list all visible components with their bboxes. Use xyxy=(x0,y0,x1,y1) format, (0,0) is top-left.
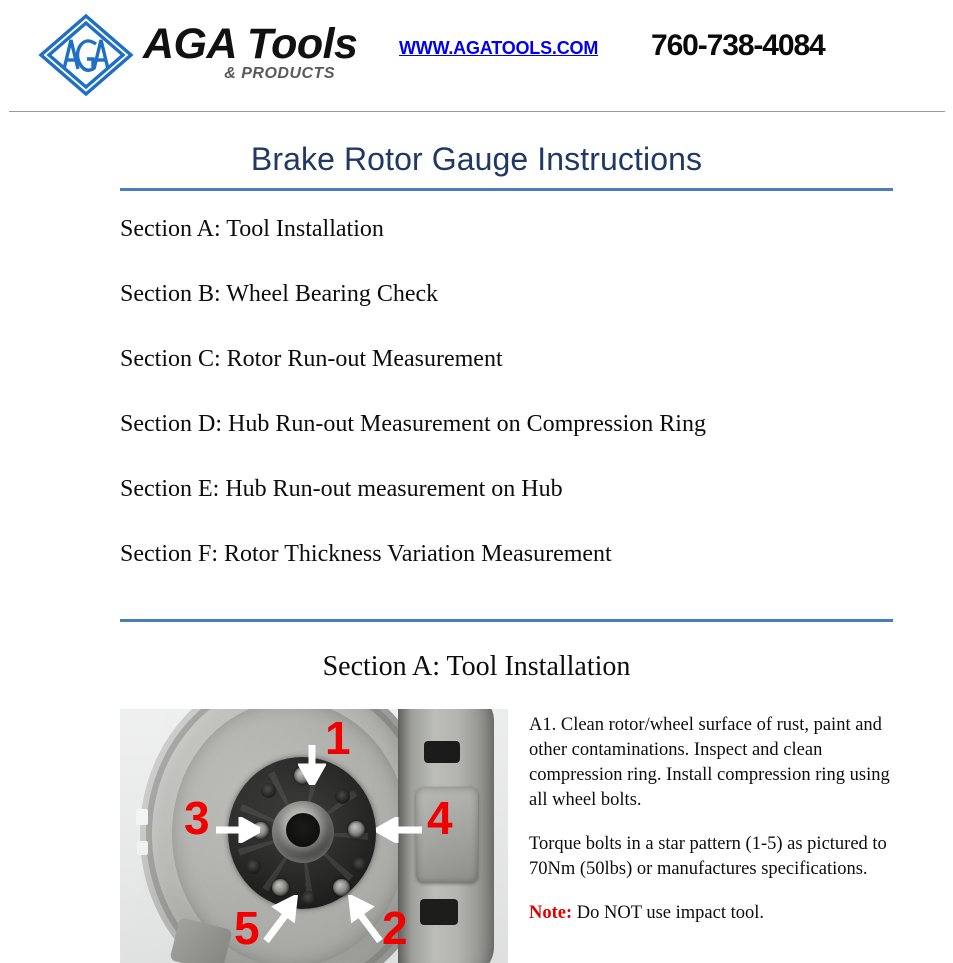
list-item[interactable]: Section F: Rotor Thickness Variation Mea… xyxy=(120,539,900,569)
document-page: AGA Tools & PRODUCTS WWW.AGATOOLS.COM 76… xyxy=(0,0,953,963)
callout-number-2: 2 xyxy=(382,905,408,951)
note-label: Note: xyxy=(529,903,572,923)
callout-number-3: 3 xyxy=(184,795,210,841)
brand-wordmark: AGA Tools & PRODUCTS xyxy=(143,21,373,83)
callout-arrow-5 xyxy=(262,895,302,943)
list-item[interactable]: Section A: Tool Installation xyxy=(120,214,900,244)
phone-number: 760-738-4084 xyxy=(651,29,825,63)
section-a-instructions: A1. Clean rotor/wheel surface of rust, p… xyxy=(529,713,907,945)
callout-number-4: 4 xyxy=(427,795,453,841)
list-item[interactable]: Section D: Hub Run-out Measurement on Co… xyxy=(120,409,900,439)
callout-arrow-1 xyxy=(298,745,326,785)
section-a-title: Section A: Tool Installation xyxy=(0,650,953,684)
list-item[interactable]: Section C: Rotor Run-out Measurement xyxy=(120,344,900,374)
instruction-note: Note: Do NOT use impact tool. xyxy=(529,901,907,926)
list-item[interactable]: Section E: Hub Run-out measurement on Hu… xyxy=(120,474,900,504)
website-link[interactable]: WWW.AGATOOLS.COM xyxy=(399,38,598,59)
aga-diamond-logo-icon xyxy=(38,13,134,97)
section-a-body: 1 3 4 5 xyxy=(120,709,910,963)
instruction-paragraph-1: A1. Clean rotor/wheel surface of rust, p… xyxy=(529,713,907,813)
page-title: Brake Rotor Gauge Instructions xyxy=(0,140,953,178)
header-divider xyxy=(9,111,945,112)
page-header: AGA Tools & PRODUCTS WWW.AGATOOLS.COM 76… xyxy=(0,0,953,111)
section-list: Section A: Tool Installation Section B: … xyxy=(120,214,900,604)
callout-arrow-3 xyxy=(216,817,260,843)
note-text: Do NOT use impact tool. xyxy=(572,903,764,923)
callout-arrow-4 xyxy=(376,817,422,843)
callout-number-1: 1 xyxy=(325,715,351,761)
instruction-paragraph-2: Torque bolts in a star pattern (1-5) as … xyxy=(529,832,907,882)
title-divider xyxy=(120,188,893,191)
section-divider xyxy=(120,619,893,622)
callout-number-5: 5 xyxy=(234,905,260,951)
brand-name: AGA Tools xyxy=(143,21,373,67)
brake-rotor-photo: 1 3 4 5 xyxy=(120,709,508,963)
list-item[interactable]: Section B: Wheel Bearing Check xyxy=(120,279,900,309)
callout-arrow-2 xyxy=(344,895,384,943)
